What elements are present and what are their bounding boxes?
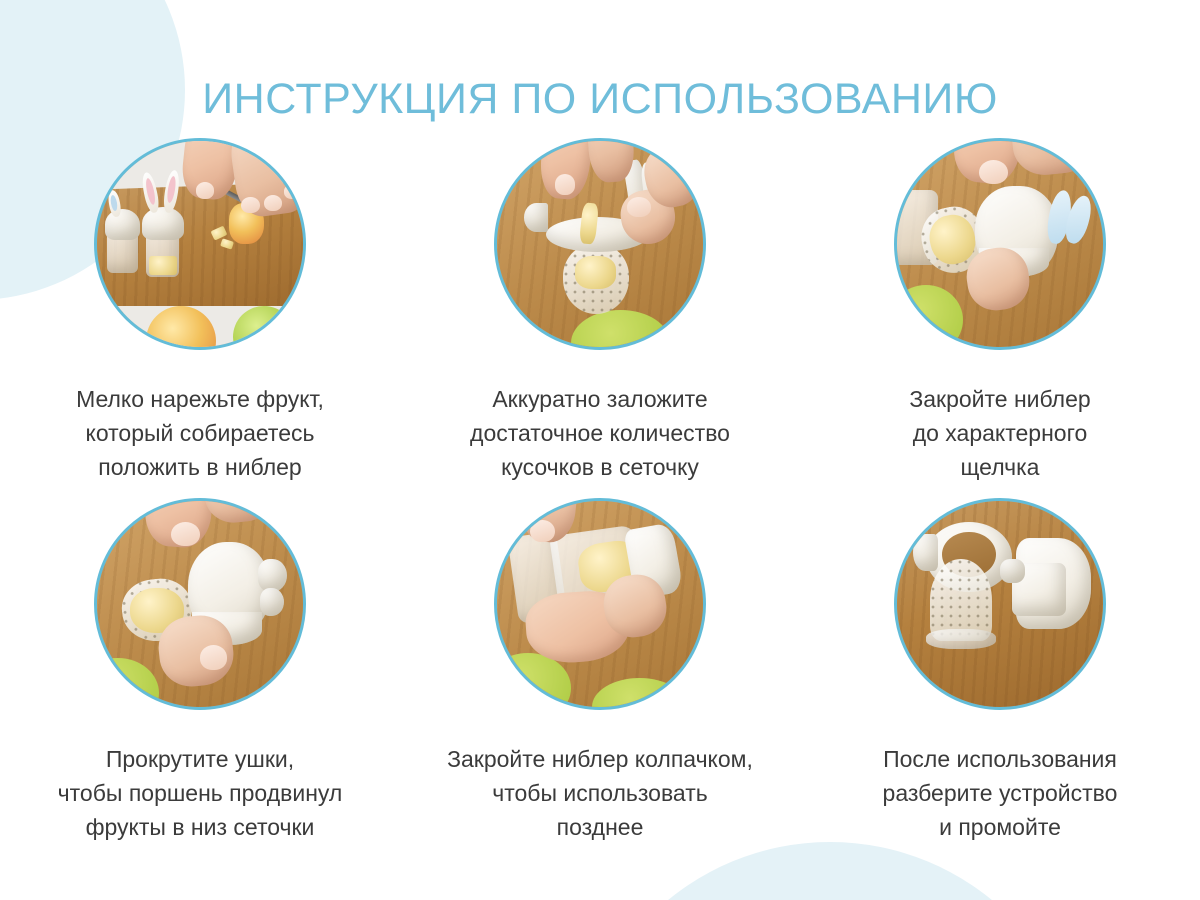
step-card-5: Закройте ниблер колпачком, чтобы использ… [400, 498, 800, 858]
step-card-6: После использования разберите устройство… [800, 498, 1200, 858]
step-card-3: Закройте ниблер до характерного щелчка [800, 138, 1200, 498]
step-caption-5: Закройте ниблер колпачком, чтобы использ… [420, 742, 780, 844]
step-photo-5 [494, 498, 706, 710]
step-photo-3 [894, 138, 1106, 350]
step-caption-4: Прокрутите ушки, чтобы поршень продвинул… [20, 742, 380, 844]
step-photo-6 [894, 498, 1106, 710]
step-photo-4 [94, 498, 306, 710]
page-title: ИНСТРУКЦИЯ ПО ИСПОЛЬЗОВАНИЮ [0, 73, 1200, 125]
photo-illustration-capped-nibbler [497, 501, 703, 707]
photo-illustration-closing-nibbler [897, 141, 1103, 347]
photo-illustration-disassembled-parts [897, 501, 1103, 707]
photo-illustration-twisting-ears [97, 501, 303, 707]
step-card-2: Аккуратно заложите достаточное количеств… [400, 138, 800, 498]
step-card-4: Прокрутите ушки, чтобы поршень продвинул… [0, 498, 400, 858]
step-caption-1: Мелко нарежьте фрукт, который собираетес… [20, 382, 380, 484]
step-card-1: Мелко нарежьте фрукт, который собираетес… [0, 138, 400, 498]
steps-grid: Мелко нарежьте фрукт, который собираетес… [0, 138, 1200, 858]
step-photo-1 [94, 138, 306, 350]
step-caption-3: Закройте ниблер до характерного щелчка [820, 382, 1180, 484]
step-photo-2 [494, 138, 706, 350]
step-caption-6: После использования разберите устройство… [820, 742, 1180, 844]
photo-illustration-loading-mesh [497, 141, 703, 347]
instruction-page: ИНСТРУКЦИЯ ПО ИСПОЛЬЗОВАНИЮ [0, 0, 1200, 900]
photo-illustration-cutting-fruit [97, 141, 303, 347]
step-caption-2: Аккуратно заложите достаточное количеств… [420, 382, 780, 484]
